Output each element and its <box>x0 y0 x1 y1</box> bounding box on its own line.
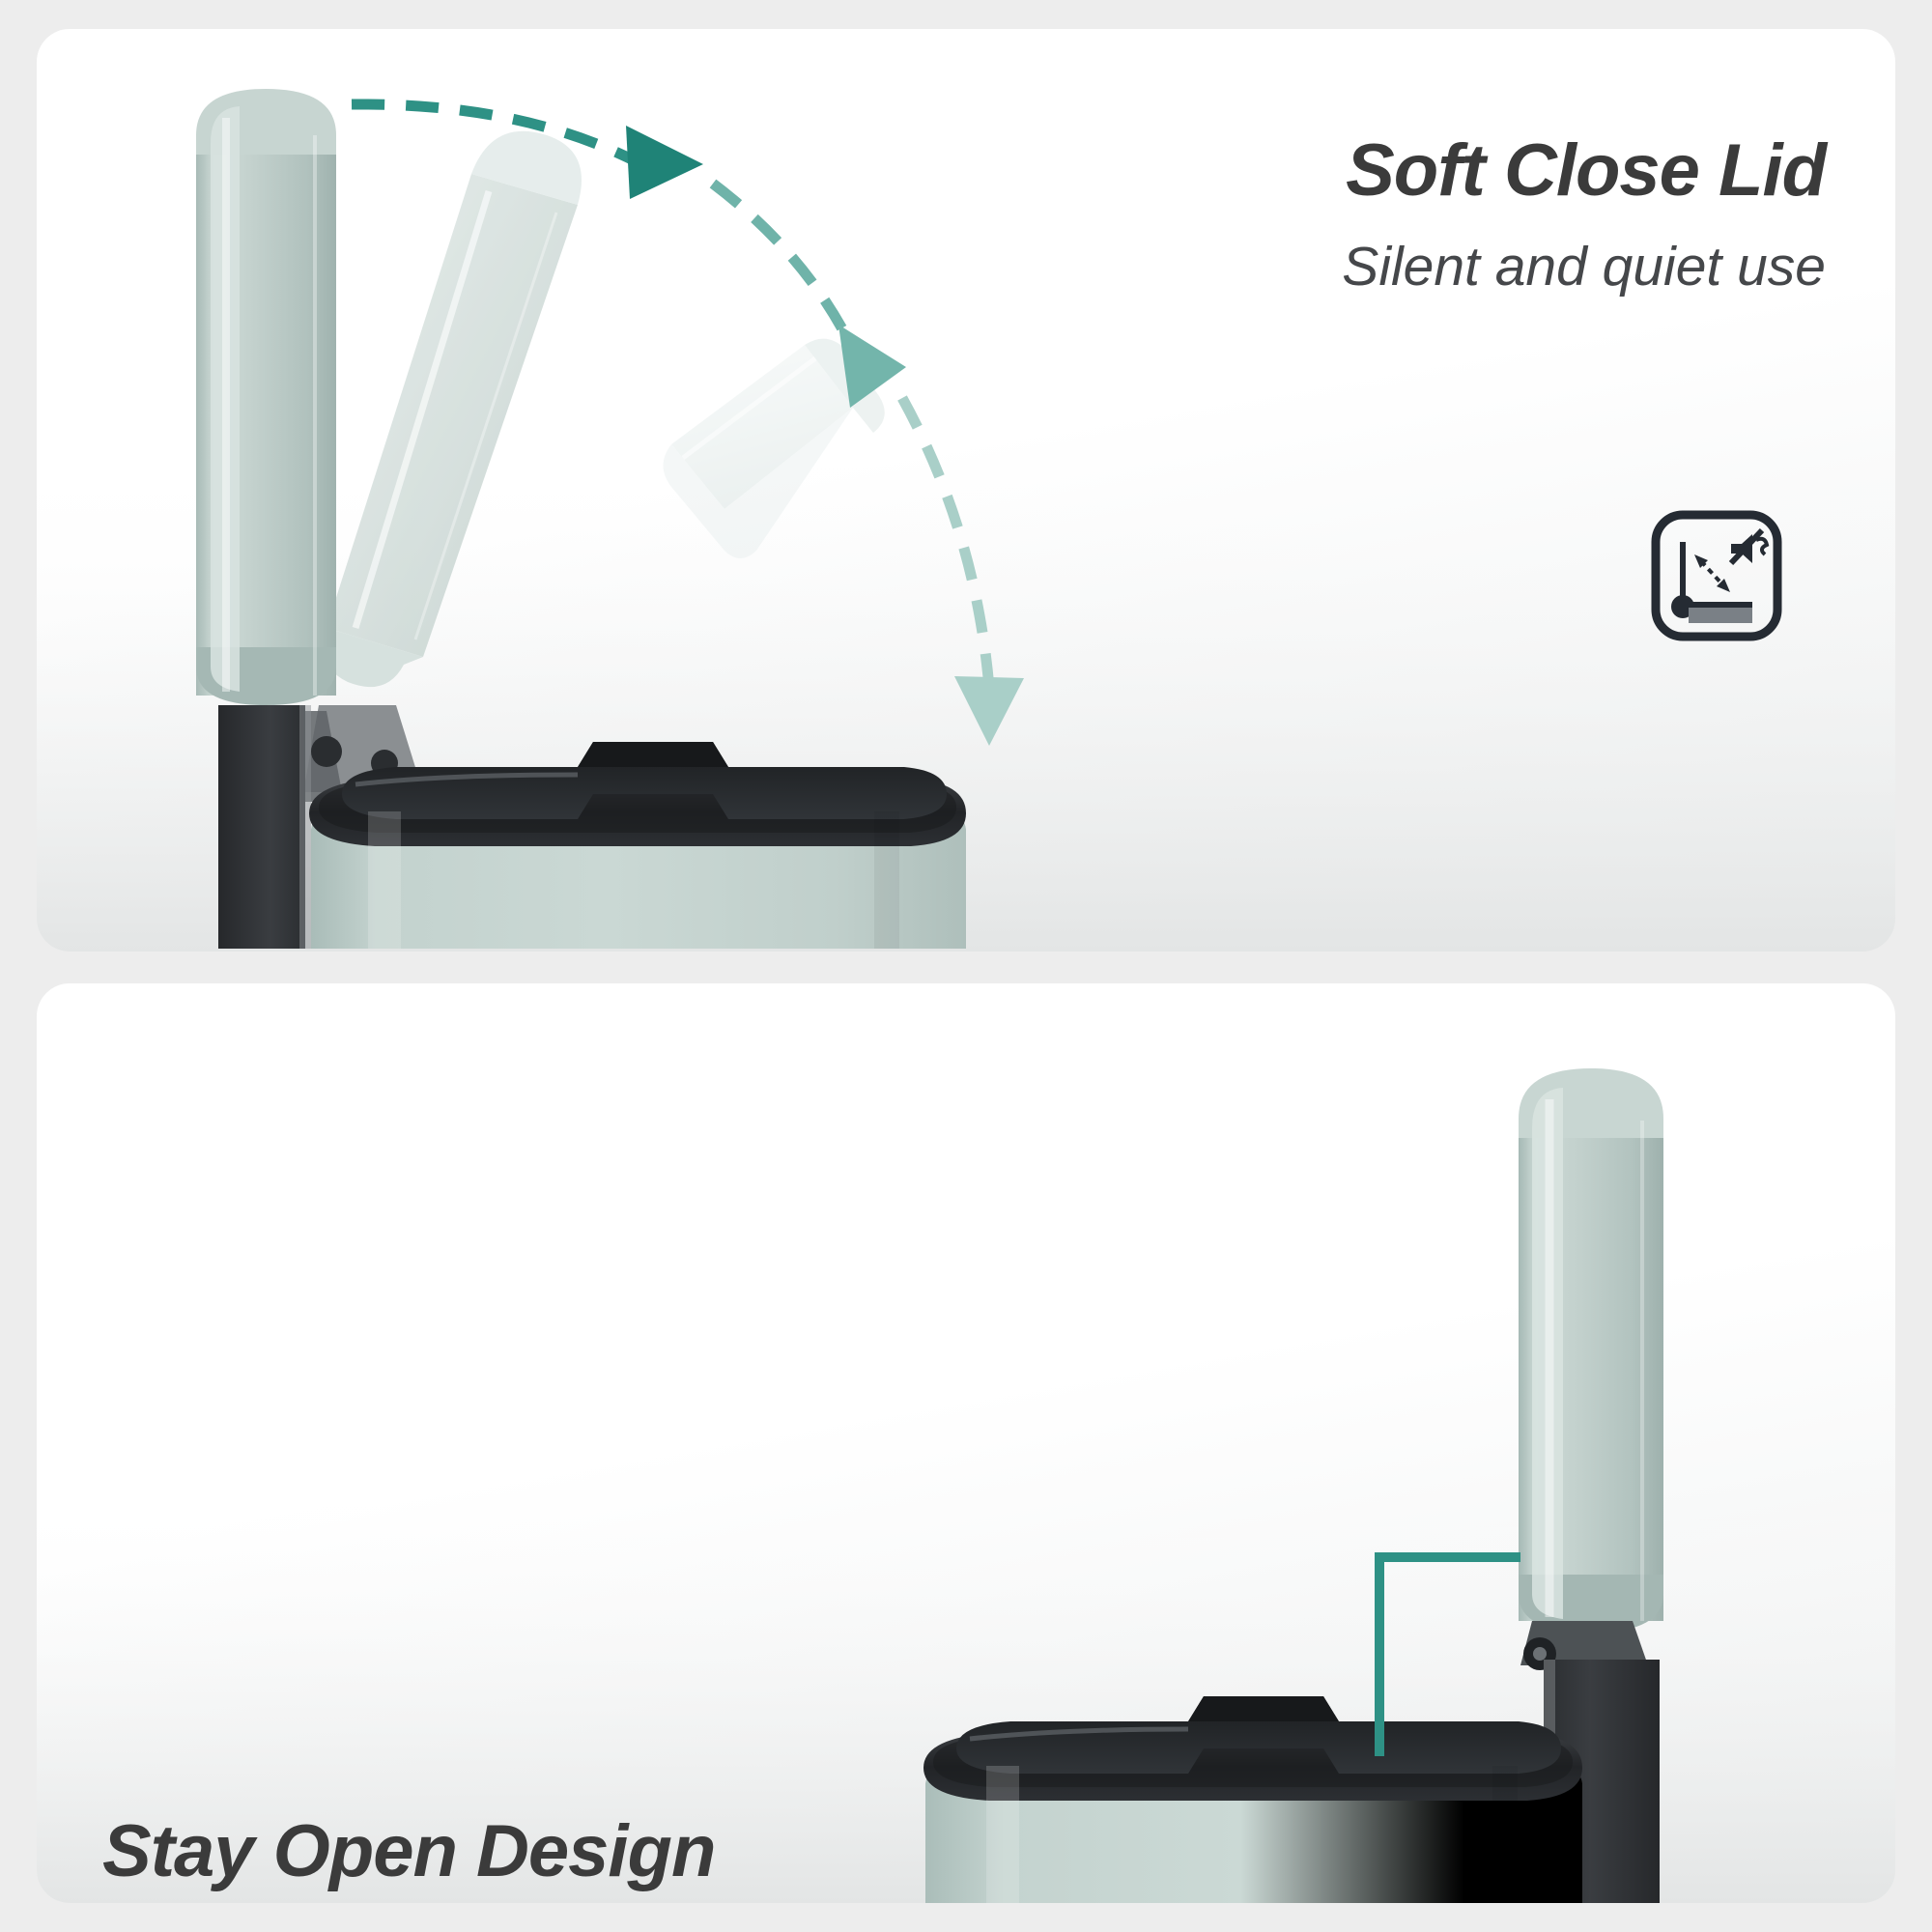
arc-arrowhead-1 <box>626 126 703 199</box>
page-title: Soft Close Lid <box>1342 133 1826 209</box>
rear-bracket <box>218 705 305 949</box>
lid-upright-open <box>1519 1068 1663 1633</box>
section-title: Stay Open Design <box>102 1814 984 1889</box>
motion-dashed-line <box>1701 561 1723 585</box>
soft-close-subtitle: Silent and quiet use <box>1342 234 1826 301</box>
base-bar <box>1689 608 1752 623</box>
bin-body <box>309 742 966 949</box>
stay-open-text-block: Stay Open Design Convenient for doing le… <box>102 1814 984 1903</box>
stay-open-illustration <box>37 983 1895 1903</box>
panel-soft-close: Soft Close Lid Silent and quiet use <box>37 29 1895 952</box>
bin-body-open <box>923 1696 1582 1903</box>
soft-close-text-block: Soft Close Lid Silent and quiet use <box>1342 133 1826 300</box>
panel-stay-open: Stay Open Design Convenient for doing le… <box>37 983 1895 1903</box>
mute-icon <box>1731 530 1767 563</box>
arc-segment-2 <box>713 184 846 336</box>
infographic-stage: Soft Close Lid Silent and quiet use <box>0 0 1932 1932</box>
lid-upright <box>196 89 336 705</box>
soft-close-badge-icon <box>1650 509 1783 642</box>
